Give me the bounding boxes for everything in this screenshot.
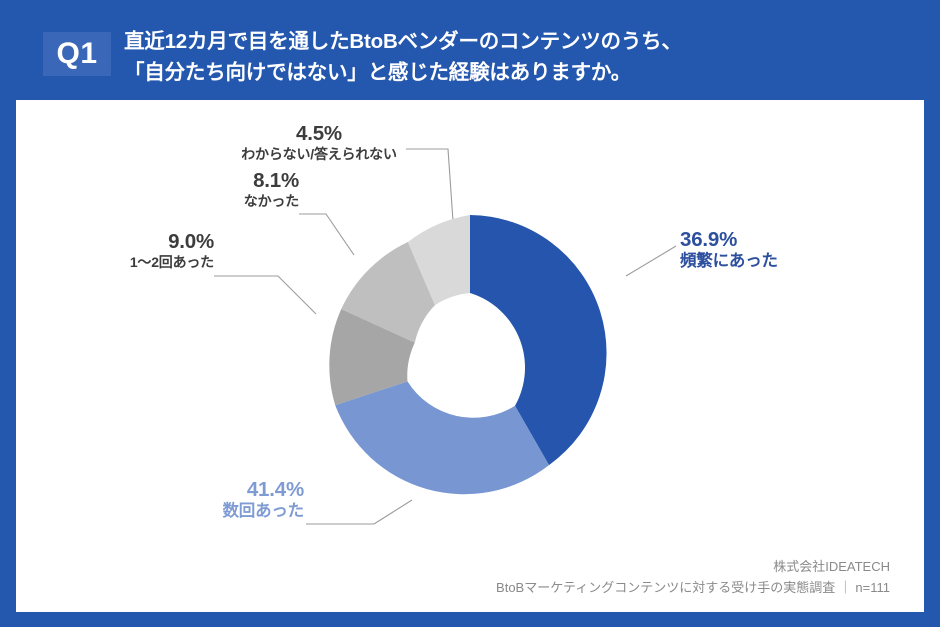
footer-survey: BtoBマーケティングコンテンツに対する受け手の実態調査 ｜ n=111 [496,577,890,598]
callout-36-9-label: 頻繁にあった [680,252,778,271]
callout-8-1: 8.1% なかった [113,169,299,209]
callout-8-1-percent: 8.1% [113,169,299,193]
callout-41-4-label: 数回あった [126,502,304,521]
leader-line-36-9 [626,246,676,276]
slide-root: Q1 直近12カ月で目を通したBtoBベンダーのコンテンツのうち、 「自分たち向… [0,0,940,627]
slide-header: Q1 直近12カ月で目を通したBtoBベンダーのコンテンツのうち、 「自分たち向… [0,0,940,100]
footer-credit: 株式会社IDEATECH BtoBマーケティングコンテンツに対する受け手の実態調… [496,556,890,598]
callout-9-0-percent: 9.0% [28,230,214,254]
question-number-badge: Q1 [43,32,111,76]
callout-8-1-label: なかった [113,193,299,209]
callout-36-9-percent: 36.9% [680,228,778,252]
callout-4-5-label: わからない/答えられない [232,146,406,162]
segment-41-4-数回あった [335,381,549,494]
donut-chart: 36.9% 頻繁にあった 41.4% 数回あった 9.0% 1〜2回あった 8.… [16,100,924,612]
callout-9-0: 9.0% 1〜2回あった [28,230,214,270]
chart-card: 36.9% 頻繁にあった 41.4% 数回あった 9.0% 1〜2回あった 8.… [16,100,924,612]
donut-segments [329,215,606,494]
leader-line-9-0 [214,276,316,314]
footer-company: 株式会社IDEATECH [496,556,890,577]
page-title-line-2: 「自分たち向けではない」と感じた経験はありますか。 [124,57,914,88]
callout-41-4-percent: 41.4% [126,478,304,502]
page-title: 直近12カ月で目を通したBtoBベンダーのコンテンツのうち、 「自分たち向けでは… [124,26,914,88]
callout-4-5-percent: 4.5% [232,122,406,146]
leader-line-4-5 [406,149,453,221]
page-title-line-1: 直近12カ月で目を通したBtoBベンダーのコンテンツのうち、 [124,26,914,57]
callout-4-5: 4.5% わからない/答えられない [232,122,406,162]
callout-9-0-label: 1〜2回あった [28,254,214,270]
leader-line-8-1 [299,214,354,255]
callout-41-4: 41.4% 数回あった [126,478,304,521]
leader-line-41-4 [306,500,412,524]
callout-36-9: 36.9% 頻繁にあった [680,228,778,271]
